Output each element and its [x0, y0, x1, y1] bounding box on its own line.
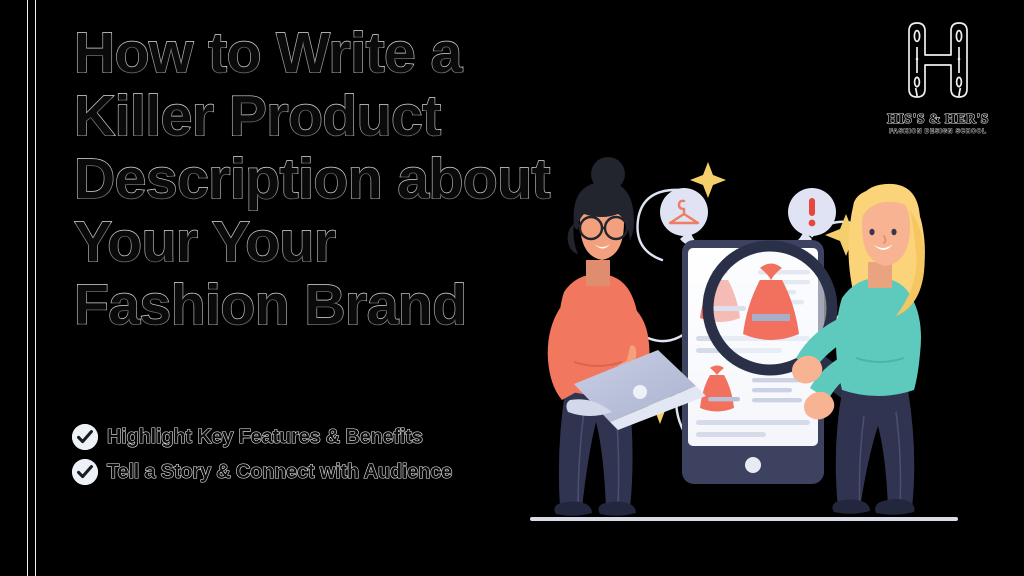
feature-list: Highlight Key Features & Benefits Tell a… [72, 424, 452, 485]
list-item: Highlight Key Features & Benefits [72, 424, 452, 450]
brand-logo: HIS'S & HER'S FASHION DESIGN SCHOOL [874, 14, 1002, 135]
hanger-speech-bubble-icon [660, 188, 708, 247]
left-accent-rule-outer [27, 0, 28, 576]
h-monogram-needle-icon [874, 14, 1002, 111]
check-circle-icon [72, 459, 98, 485]
ground-line [530, 517, 958, 521]
logo-tagline: FASHION DESIGN SCHOOL [874, 129, 1002, 135]
hero-illustration [512, 140, 1024, 550]
promo-banner: How to Write a Killer Product Descriptio… [0, 0, 1024, 576]
list-item-label: Tell a Story & Connect with Audience [107, 461, 452, 484]
check-circle-icon [72, 424, 98, 450]
list-item: Tell a Story & Connect with Audience [72, 459, 452, 485]
list-item-label: Highlight Key Features & Benefits [107, 426, 423, 449]
left-accent-rule-inner [35, 0, 36, 576]
logo-wordmark: HIS'S & HER'S [874, 112, 1002, 128]
exclamation-speech-bubble-icon [787, 188, 836, 247]
